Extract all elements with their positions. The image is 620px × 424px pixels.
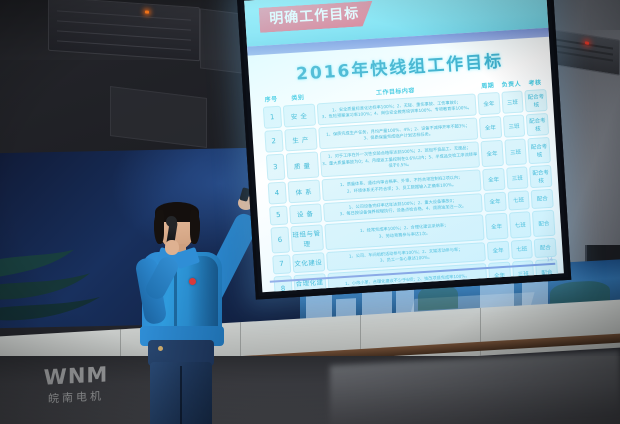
cell-category: 合理化建议 — [293, 273, 327, 292]
jeans-seam — [180, 366, 182, 424]
cell-period: 全年 — [487, 240, 510, 260]
cell-no: 1 — [263, 106, 282, 129]
status-led-icon — [585, 41, 589, 45]
cell-check: 配合 — [532, 209, 555, 236]
cell-owner: 三班 — [501, 90, 524, 113]
cell-no: 6 — [270, 226, 289, 253]
cell-category: 文化建设 — [292, 252, 325, 273]
cell-no: 2 — [264, 130, 283, 153]
photo-scene: | 主办单位 | 安徽省计量协会、安徽省质 | 承办单位 | 安徽省工商行政和质… — [0, 0, 620, 424]
column-header-no: 序号 — [262, 93, 280, 105]
hair-side — [190, 210, 200, 244]
presenter — [110, 196, 260, 424]
cell-owner: 七班 — [509, 211, 532, 238]
cell-period: 全年 — [480, 140, 503, 167]
cell-owner: 三班 — [504, 138, 527, 165]
cell-period: 全年 — [484, 191, 507, 211]
cell-category: 设 备 — [289, 203, 322, 224]
cell-owner: 七班 — [507, 190, 530, 210]
cell-owner: 三班 — [506, 166, 529, 189]
cell-category: 安 全 — [282, 104, 315, 128]
microphone-head-icon — [166, 216, 177, 227]
cell-no: 4 — [268, 181, 287, 204]
cell-check: 配合 — [531, 188, 554, 208]
projection-screen[interactable]: 明确工作目标 2016年快线组工作目标 序号 类别 工作目标内容 周期 负责人 … — [237, 0, 572, 300]
cell-no: 3 — [266, 154, 285, 181]
cell-period: 全年 — [485, 212, 508, 239]
column-header-category: 类别 — [281, 91, 314, 104]
hair-side — [154, 210, 164, 244]
presentation-slide[interactable]: 明确工作目标 2016年快线组工作目标 序号 类别 工作目标内容 周期 负责人 … — [244, 0, 564, 292]
cell-period: 全年 — [477, 92, 500, 115]
slide-page-number: 14 — [546, 257, 553, 263]
cell-category: 体 系 — [287, 179, 320, 203]
company-logo-icon — [189, 278, 196, 285]
cell-check: 配合考核 — [529, 164, 552, 187]
cell-no: 7 — [272, 254, 291, 274]
cell-check: 配合考核 — [525, 89, 548, 112]
cell-category: 班组与管理 — [290, 224, 324, 252]
goals-table: 序号 类别 工作目标内容 周期 负责人 考核 1安 全1、安全质量标准化达标率1… — [260, 74, 561, 292]
column-header-owner: 负责人 — [500, 77, 522, 89]
column-header-period: 周期 — [477, 79, 499, 91]
status-led-icon — [145, 10, 149, 13]
cell-check: 配合考核 — [526, 113, 549, 136]
cell-owner: 七班 — [510, 239, 533, 259]
cell-no: 8 — [273, 275, 292, 292]
cell-check: 配合考核 — [528, 137, 551, 164]
cell-period: 全年 — [479, 116, 502, 139]
cell-period: 全年 — [482, 167, 505, 190]
jeans-button-icon — [158, 346, 163, 351]
ceiling-air-conditioner-icon — [48, 0, 200, 61]
cell-check: 配合 — [534, 237, 557, 257]
goals-table-body: 1安 全1、安全质量标准化达标率100%；2、无轻、重伤事故、工伤事故0；3、危… — [263, 89, 559, 292]
hand-holding-microphone — [165, 240, 179, 255]
cell-owner: 三班 — [503, 114, 526, 137]
cell-category: 质 量 — [285, 151, 319, 178]
column-header-check: 考核 — [524, 76, 546, 88]
cell-no: 5 — [269, 205, 288, 225]
cell-category: 生 产 — [284, 128, 317, 152]
